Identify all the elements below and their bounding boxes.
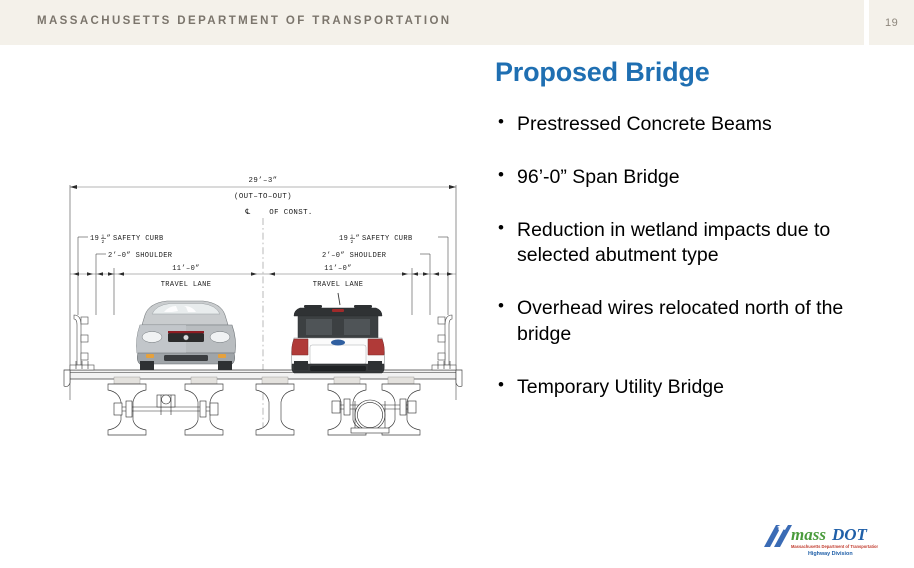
vehicle-sedan-front	[136, 301, 235, 370]
bullet-list: Prestressed Concrete Beams 96’-0” Span B…	[495, 112, 895, 401]
safety-curb-unit-left: ”	[107, 235, 112, 243]
header-divider	[864, 0, 869, 45]
shoulder-leader-right	[420, 254, 430, 261]
bridge-cross-section-drawing: 29’–3” (OUT–TO–OUT) ℄ OF CONST. 19 1 2 ”…	[48, 165, 478, 455]
overall-dimension-note: (OUT–TO–OUT)	[234, 193, 292, 201]
organization-title: MASSACHUSETTS DEPARTMENT OF TRANSPORTATI…	[37, 15, 452, 27]
massdot-logo: mass DOT Massachusetts Department of Tra…	[760, 521, 878, 561]
lane-width-right: 11’–0”	[324, 265, 352, 273]
railing-right	[432, 315, 456, 370]
safety-curb-value-right: 19	[339, 235, 348, 243]
slide-title: Proposed Bridge	[495, 58, 895, 88]
lane-name-left: TRAVEL LANE	[161, 281, 212, 289]
safety-curb-label-right: SAFETY CURB	[362, 235, 413, 243]
safety-curb-leader-left	[78, 237, 88, 261]
slide-header-band: MASSACHUSETTS DEPARTMENT OF TRANSPORTATI…	[0, 0, 914, 45]
safety-curb-value-left: 19	[90, 235, 99, 243]
shoulder-label-right: 2’–0” SHOULDER	[322, 252, 387, 260]
centerline-symbol: ℄	[244, 209, 250, 217]
lane-width-left: 11’–0”	[172, 265, 200, 273]
centerline-label: OF CONST.	[269, 209, 313, 217]
railing-left	[70, 315, 94, 370]
bullet-item: Prestressed Concrete Beams	[495, 112, 889, 138]
bullet-item: 96’-0” Span Bridge	[495, 165, 889, 191]
massdot-logo-svg: mass DOT Massachusetts Department of Tra…	[760, 521, 878, 561]
logo-brand-dot: DOT	[831, 525, 868, 544]
logo-brand-mass: mass	[791, 525, 826, 544]
overall-dimension-label: 29’–3”	[248, 177, 277, 185]
beam-3	[256, 384, 294, 435]
logo-division: Highway Division	[808, 551, 853, 557]
safety-curb-frac-den-left: 2	[102, 239, 105, 245]
slide-content-column: Proposed Bridge Prestressed Concrete Bea…	[495, 58, 895, 428]
safety-curb-label-left: SAFETY CURB	[113, 235, 164, 243]
safety-curb-frac-den-right: 2	[351, 239, 354, 245]
shoulder-leader-left	[96, 254, 106, 261]
bullet-item: Temporary Utility Bridge	[495, 375, 889, 401]
logo-tagline: Massachusetts Department of Transportati…	[791, 544, 878, 549]
lane-name-right: TRAVEL LANE	[313, 281, 364, 289]
safety-curb-unit-right: ”	[356, 235, 361, 243]
page-number: 19	[885, 17, 898, 29]
safety-curb-leader-right	[438, 237, 448, 261]
bullet-item: Reduction in wetland impacts due to sele…	[495, 218, 889, 270]
massdot-arrow-icon	[764, 524, 792, 547]
vehicle-suv-rear	[291, 293, 384, 373]
bullet-item: Overhead wires relocated north of the br…	[495, 296, 889, 348]
shoulder-label-left: 2’–0” SHOULDER	[108, 252, 173, 260]
bridge-section-svg: 29’–3” (OUT–TO–OUT) ℄ OF CONST. 19 1 2 ”…	[48, 165, 478, 455]
